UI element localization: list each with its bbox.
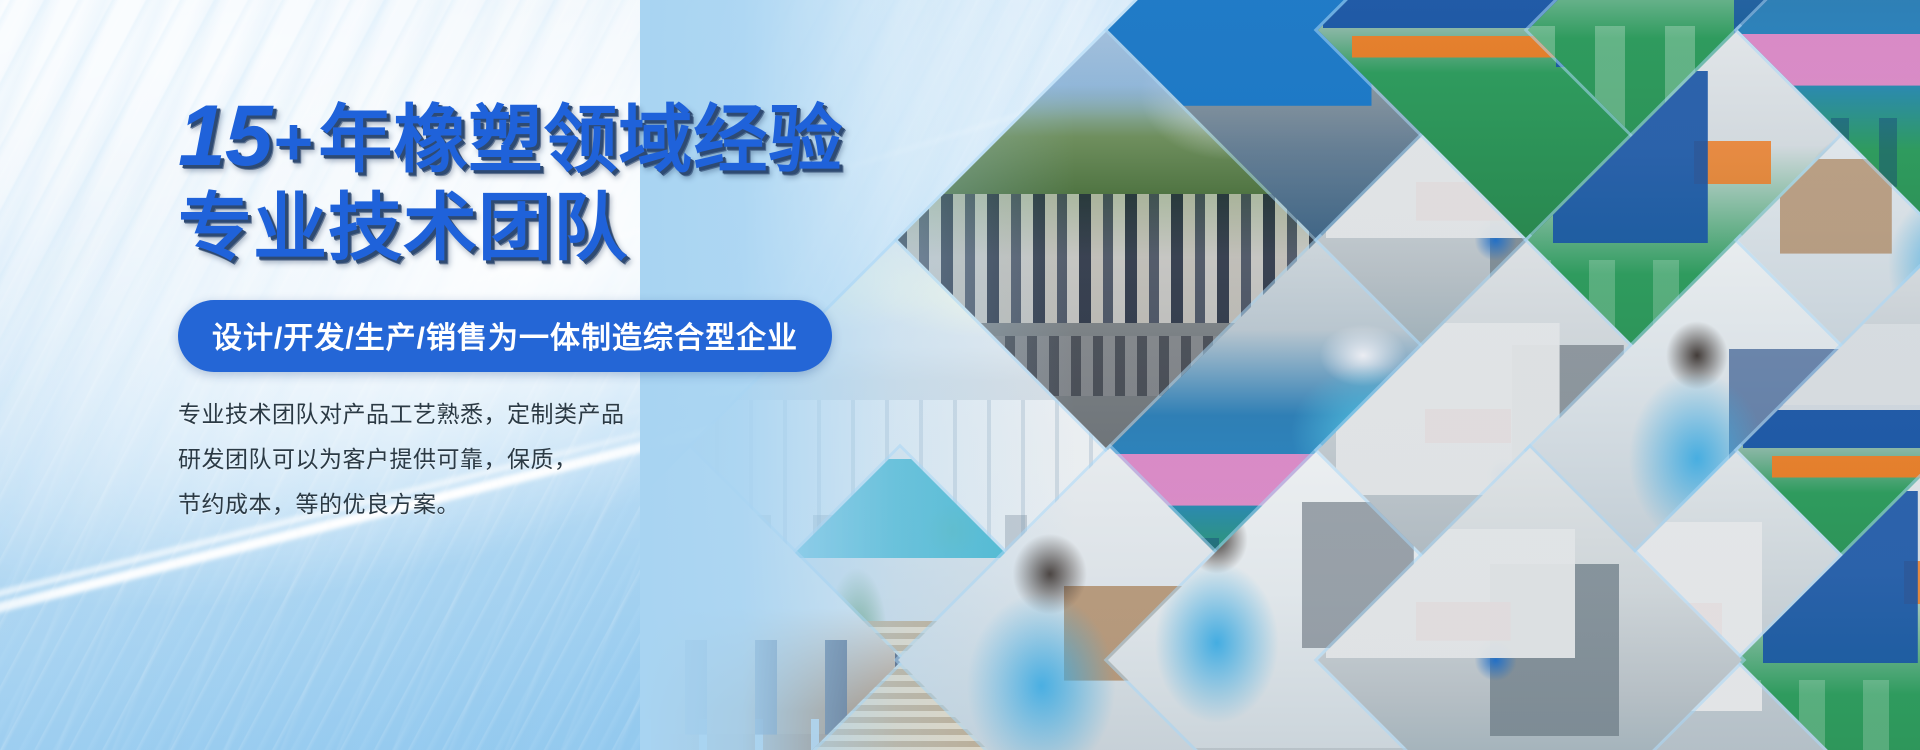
promo-banner: 15+年橡塑领域经验 专业技术团队 设计/开发/生产/销售为一体制造综合型企业 … (0, 0, 1920, 750)
description-line-3: 节约成本，等的优良方案。 (178, 482, 625, 527)
headline-plus-sign: + (274, 104, 319, 180)
description-paragraph: 专业技术团队对产品工艺熟悉，定制类产品 研发团队可以为客户提供可靠，保质， 节约… (178, 392, 625, 527)
banner-content: 15+年橡塑领域经验 专业技术团队 设计/开发/生产/销售为一体制造综合型企业 … (0, 0, 980, 750)
tagline-pill: 设计/开发/生产/销售为一体制造综合型企业 (178, 300, 832, 372)
headline-line1-text: 年橡塑领域经验 (318, 98, 843, 181)
headline: 15+年橡塑领域经验 专业技术团队 (178, 96, 843, 268)
description-line-1: 专业技术团队对产品工艺熟悉，定制类产品 (178, 392, 625, 437)
description-line-2: 研发团队可以为客户提供可靠，保质， (178, 437, 625, 482)
headline-years-number: 15 (178, 88, 274, 184)
headline-line2-text: 专业技术团队 (178, 188, 843, 268)
